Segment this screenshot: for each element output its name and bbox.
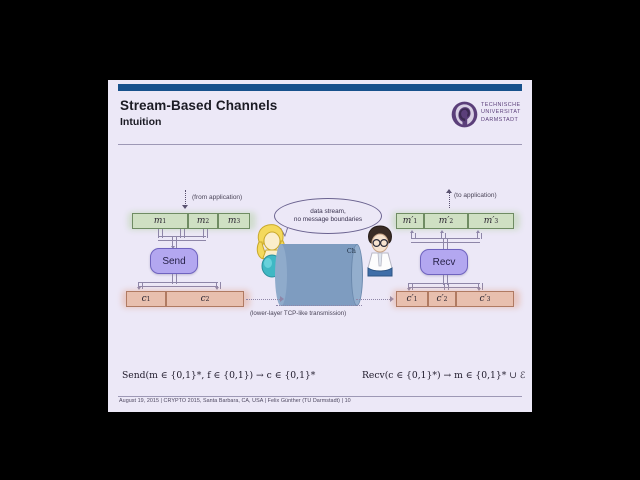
stream-channel-diagram: (from application) m1 m2 m3 xyxy=(108,150,532,370)
ciphertext-cell: c′1 xyxy=(396,291,428,307)
recv-node[interactable]: Recv xyxy=(420,249,468,275)
logo-wordmark: TECHNISCHE UNIVERSITAT DARMSTADT xyxy=(481,102,521,124)
message-index: 1 xyxy=(162,218,166,225)
header-divider xyxy=(118,144,522,145)
from-application-label: (from application) xyxy=(192,194,242,201)
message-cell: m′2 xyxy=(424,213,468,229)
ciphertext-index: 1 xyxy=(147,296,151,303)
wire-ct-across xyxy=(138,282,218,287)
tu-darmstadt-logo: TECHNISCHE UNIVERSITAT DARMSTADT xyxy=(451,101,525,131)
message-cell: m′1 xyxy=(396,213,424,229)
page-title: Stream-Based Channels xyxy=(120,98,277,113)
transmission-arrow-left xyxy=(280,296,284,302)
footer-divider xyxy=(118,396,522,397)
ciphertext-cell: c1 xyxy=(126,291,166,307)
message-index: 3 xyxy=(494,218,498,225)
sender-message-strip: m1 m2 m3 xyxy=(132,213,250,229)
ciphertext-cell: c′2 xyxy=(428,291,456,307)
message-symbol: m′ xyxy=(484,216,495,226)
message-symbol: m xyxy=(228,216,237,226)
wire-rct2-down xyxy=(444,283,449,290)
slide-footer: August 19, 2015 | CRYPTO 2015, Santa Bar… xyxy=(119,398,351,404)
message-index: 3 xyxy=(236,218,240,225)
channel-label: Ch xyxy=(347,247,356,255)
ciphertext-cell: c2 xyxy=(166,291,244,307)
ciphertext-symbol: c′ xyxy=(437,294,444,304)
message-index: 2 xyxy=(205,218,209,225)
receiver-person-illustration xyxy=(361,224,399,278)
from-application-arrow xyxy=(182,190,189,208)
message-index: 1 xyxy=(413,218,417,225)
bubble-line-2: no message boundaries xyxy=(294,216,362,224)
logo-line-3: DARMSTADT xyxy=(481,117,521,124)
logo-line-2: UNIVERSITAT xyxy=(481,109,521,116)
to-application-label: (to application) xyxy=(454,192,497,199)
wire-recv-out xyxy=(443,238,448,249)
bubble-line-1: data stream, xyxy=(294,208,362,216)
message-cell: m′3 xyxy=(468,213,514,229)
ciphertext-index: 1 xyxy=(414,296,418,303)
ciphertext-symbol: c′ xyxy=(407,294,414,304)
transmission-line-left xyxy=(246,299,282,300)
logo-line-1: TECHNISCHE xyxy=(481,102,521,109)
message-symbol: m′ xyxy=(439,216,450,226)
wire-msg3-across xyxy=(173,236,206,241)
message-index: 2 xyxy=(449,218,453,225)
message-cell: m1 xyxy=(132,213,188,229)
message-symbol: m′ xyxy=(403,216,414,226)
receiver-ciphertext-strip: c′1 c′2 c′3 xyxy=(396,291,514,307)
to-application-arrow xyxy=(446,190,453,208)
recv-formula: Recv(c ∈ {0,1}*) → m ∈ {0,1}* ∪ ℰ xyxy=(362,370,525,381)
transmission-line-right xyxy=(356,299,392,300)
send-formula: Send(m ∈ {0,1}*, f ∈ {0,1}) → c ∈ {0,1}* xyxy=(122,370,315,381)
receiver-message-strip: m′1 m′2 m′3 xyxy=(396,213,514,229)
ciphertext-index: 3 xyxy=(487,296,491,303)
transmission-caption: (lower-layer TCP-like transmission) xyxy=(250,310,346,317)
message-cell: m2 xyxy=(188,213,218,229)
channel-cylinder: Ch xyxy=(275,244,363,306)
transmission-line-under xyxy=(276,305,362,306)
send-node[interactable]: Send xyxy=(150,248,198,274)
message-symbol: m xyxy=(197,216,206,226)
top-accent-bar xyxy=(118,84,522,91)
presentation-slide: Stream-Based Channels Intuition TECHNISC… xyxy=(108,80,532,412)
message-symbol: m xyxy=(154,216,163,226)
ciphertext-index: 2 xyxy=(444,296,448,303)
message-cell: m3 xyxy=(218,213,250,229)
page-subtitle: Intuition xyxy=(120,116,161,128)
video-frame: Stream-Based Channels Intuition TECHNISC… xyxy=(0,0,640,480)
athena-head-icon xyxy=(451,101,478,128)
ciphertext-index: 2 xyxy=(206,296,210,303)
ciphertext-cell: c′3 xyxy=(456,291,514,307)
wire-msg1-across xyxy=(158,236,173,241)
ciphertext-symbol: c′ xyxy=(480,294,487,304)
sender-ciphertext-strip: c1 c2 xyxy=(126,291,244,307)
cylinder-body xyxy=(281,244,357,306)
